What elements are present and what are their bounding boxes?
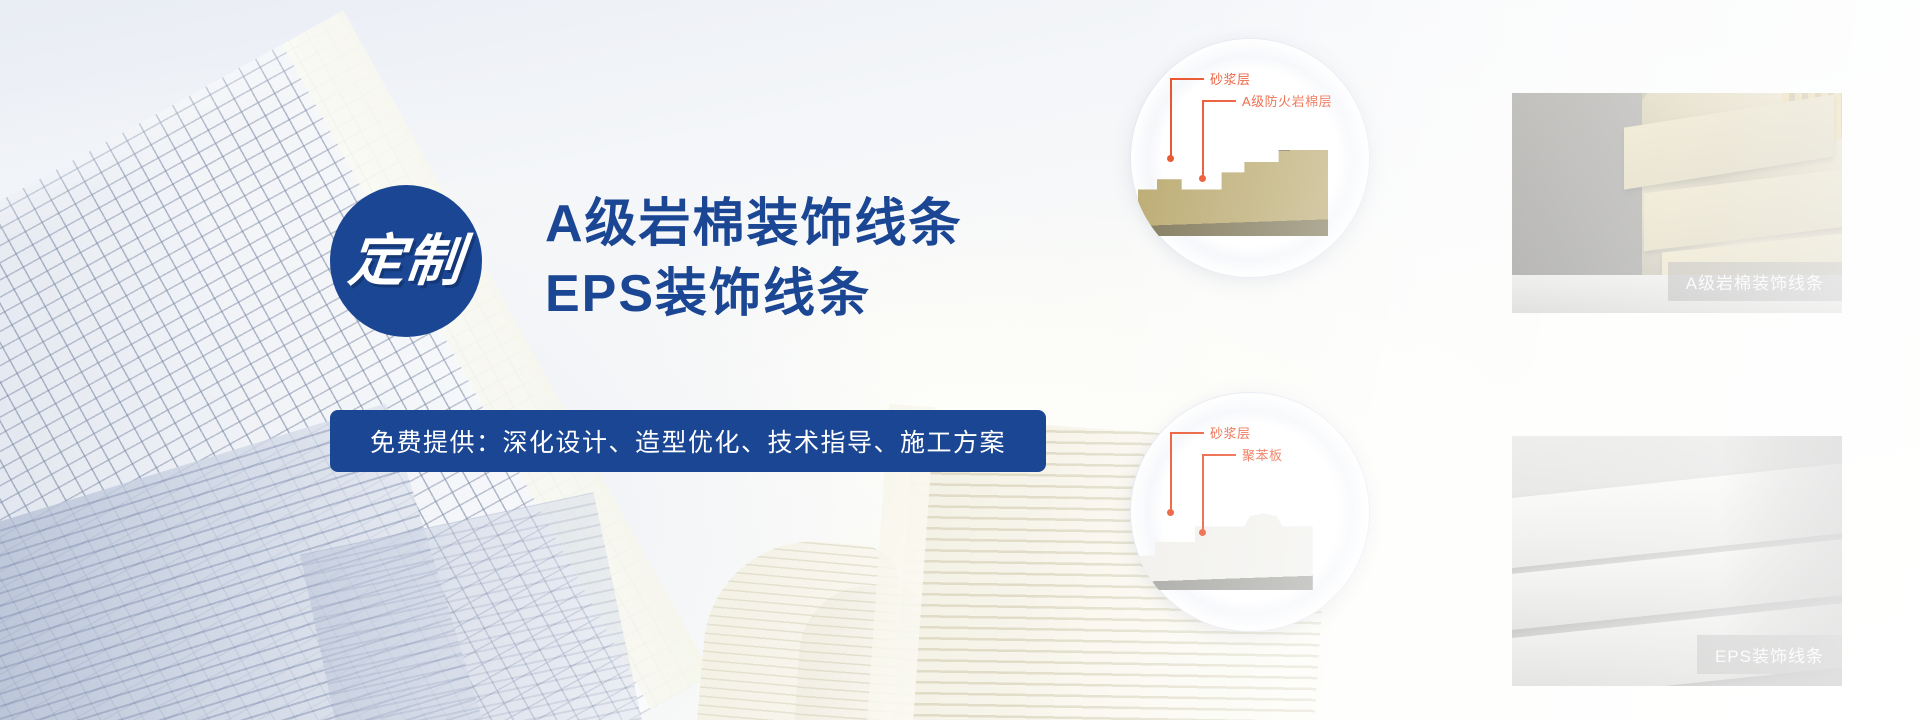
callout-point-marker — [1199, 529, 1206, 536]
callout-label: A级防火岩棉层 — [1242, 91, 1332, 110]
cutaway-diagram-eps: 砂浆层 聚苯板 — [1130, 392, 1370, 632]
callout-line-vertical — [1202, 454, 1204, 532]
callout-line-vertical — [1170, 78, 1172, 158]
callout-line-horizontal — [1202, 454, 1236, 456]
services-pill: 免费提供：深化设计、造型优化、技术指导、施工方案 — [330, 410, 1046, 472]
callout-line-vertical — [1202, 100, 1204, 178]
callout-line-vertical — [1170, 432, 1172, 512]
callout-point-marker — [1167, 155, 1174, 162]
custom-badge-label: 定制 — [346, 233, 466, 289]
product-photo-eps: EPS装饰线条 — [1512, 436, 1842, 686]
callout-point-marker — [1199, 175, 1206, 182]
callout-point-marker — [1167, 509, 1174, 516]
callout-line-horizontal — [1202, 100, 1236, 102]
eps-profile-shape — [1138, 504, 1328, 590]
callout-line-horizontal — [1170, 78, 1204, 80]
promo-banner: 定制 A级岩棉装饰线条 EPS装饰线条 免费提供：深化设计、造型优化、技术指导、… — [0, 0, 1920, 720]
product-caption-eps: EPS装饰线条 — [1697, 635, 1842, 674]
callout-label: 聚苯板 — [1242, 445, 1283, 464]
product-card-eps: EPS装饰线条 砂浆层 聚苯板 — [1130, 378, 1890, 698]
headline-group: A级岩棉装饰线条 EPS装饰线条 — [545, 190, 963, 329]
callout-label: 砂浆层 — [1210, 69, 1251, 88]
cutaway-diagram-rockwool: 砂浆层 A级防火岩棉层 — [1130, 38, 1370, 278]
callout-label: 砂浆层 — [1210, 423, 1251, 442]
custom-badge: 定制 — [330, 185, 482, 337]
services-pill-text: 免费提供：深化设计、造型优化、技术指导、施工方案 — [370, 423, 1006, 459]
rockwool-profile-shape — [1138, 150, 1328, 236]
callout-line-horizontal — [1170, 432, 1204, 434]
headline-line-2: EPS装饰线条 — [545, 260, 963, 330]
product-caption-rockwool: A级岩棉装饰线条 — [1668, 262, 1842, 301]
headline-line-1: A级岩棉装饰线条 — [545, 190, 963, 260]
product-card-rockwool: A级岩棉装饰线条 砂浆层 A级防火岩棉层 — [1130, 38, 1890, 348]
product-photo-rockwool: A级岩棉装饰线条 — [1512, 93, 1842, 313]
